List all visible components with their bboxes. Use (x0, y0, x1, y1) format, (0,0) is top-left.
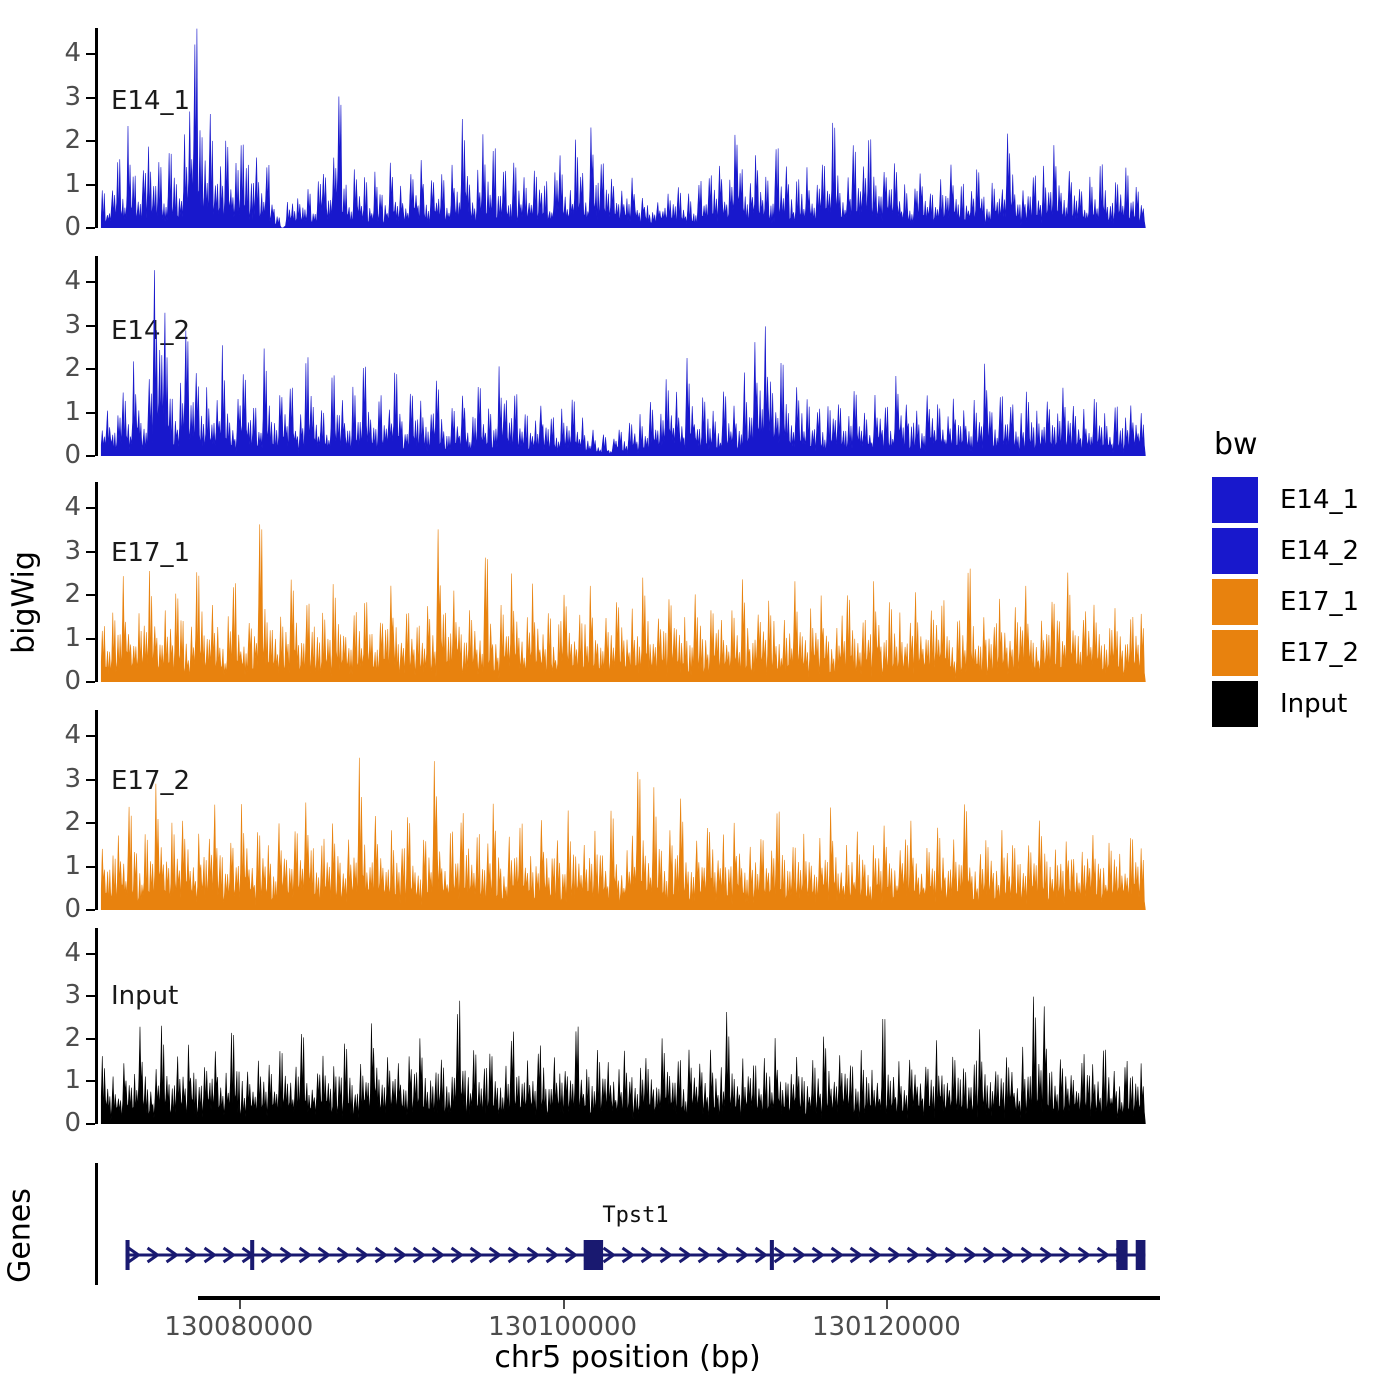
y-tick-label: 4 (41, 940, 81, 966)
y-tick (86, 281, 95, 283)
y-tick-label: 2 (41, 1025, 81, 1051)
legend-swatch-e17_1 (1212, 579, 1258, 625)
gene-exon (584, 1240, 603, 1270)
y-tick-label: 3 (41, 312, 81, 338)
signal-path (101, 524, 1145, 682)
legend-swatch-e14_2 (1212, 528, 1258, 574)
x-tick (563, 1300, 565, 1309)
y-tick (86, 866, 95, 868)
gene-exon (770, 1240, 774, 1270)
y-tick (86, 638, 95, 640)
signal-path (101, 270, 1145, 456)
y-tick-label: 3 (41, 538, 81, 564)
y-tick-label: 1 (41, 399, 81, 425)
legend-label: E17_2 (1280, 638, 1359, 668)
signal-path (101, 29, 1145, 228)
y-tick (86, 681, 95, 683)
gene-exon (126, 1240, 130, 1270)
legend-item-input[interactable]: Input (1212, 678, 1392, 729)
y-tick-label: 0 (41, 896, 81, 922)
y-tick-label: 2 (41, 809, 81, 835)
y-tick-label: 2 (41, 127, 81, 153)
x-tick (239, 1300, 241, 1309)
y-tick (86, 779, 95, 781)
legend-swatch-e14_1 (1212, 477, 1258, 523)
legend-item-e14_2[interactable]: E14_2 (1212, 525, 1392, 576)
y-tick (86, 1038, 95, 1040)
signal-area-e17_1 (98, 482, 1160, 682)
y-tick (86, 953, 95, 955)
legend-title: bw (1214, 430, 1392, 460)
signal-area-e17_2 (98, 710, 1160, 910)
y-tick-label: 0 (41, 668, 81, 694)
y-tick-label: 4 (41, 268, 81, 294)
y-tick-label: 1 (41, 625, 81, 651)
y-tick (86, 822, 95, 824)
x-tick-label: 130120000 (812, 1312, 961, 1342)
legend-item-e14_1[interactable]: E14_1 (1212, 474, 1392, 525)
y-axis-title-genes: Genes (3, 1166, 38, 1306)
y-tick-label: 1 (41, 853, 81, 879)
y-tick (86, 455, 95, 457)
legend-items: E14_1E14_2E17_1E17_2Input (1212, 474, 1392, 729)
signal-path (101, 758, 1145, 910)
y-tick-label: 1 (41, 171, 81, 197)
legend-item-e17_1[interactable]: E17_1 (1212, 576, 1392, 627)
y-tick-label: 4 (41, 494, 81, 520)
y-tick (86, 412, 95, 414)
x-tick-label: 130080000 (164, 1312, 313, 1342)
y-tick (86, 735, 95, 737)
track-panel-e17_1: 01234E17_1 (95, 482, 1160, 682)
legend-swatch-e17_2 (1212, 630, 1258, 676)
y-tick (86, 551, 95, 553)
y-axis-title-bigwig: bigWig (7, 533, 42, 673)
y-tick-label: 4 (41, 722, 81, 748)
y-tick-label: 3 (41, 84, 81, 110)
y-tick (86, 227, 95, 229)
gene-exon (1116, 1240, 1127, 1270)
y-tick (86, 184, 95, 186)
y-tick (86, 594, 95, 596)
y-tick (86, 325, 95, 327)
legend-label: E14_1 (1280, 485, 1359, 515)
legend: bw E14_1E14_2E17_1E17_2Input (1212, 430, 1392, 729)
y-tick (86, 368, 95, 370)
legend-item-e17_2[interactable]: E17_2 (1212, 627, 1392, 678)
y-tick-label: 1 (41, 1067, 81, 1093)
track-panel-input: 01234Input (95, 928, 1160, 1124)
legend-swatch-input (1212, 681, 1258, 727)
signal-area-e14_2 (98, 256, 1160, 456)
y-tick-label: 3 (41, 982, 81, 1008)
y-tick (86, 909, 95, 911)
x-axis-title: chr5 position (bp) (95, 1340, 1160, 1375)
y-tick-label: 3 (41, 766, 81, 792)
legend-label: E17_1 (1280, 587, 1359, 617)
y-tick (86, 97, 95, 99)
y-tick (86, 53, 95, 55)
y-tick (86, 1080, 95, 1082)
y-tick-label: 0 (41, 214, 81, 240)
y-tick-label: 2 (41, 581, 81, 607)
signal-area-e14_1 (98, 28, 1160, 228)
y-tick-label: 0 (41, 1110, 81, 1136)
y-tick (86, 140, 95, 142)
track-panel-e17_2: 01234E17_2 (95, 710, 1160, 910)
y-tick (86, 995, 95, 997)
y-tick (86, 507, 95, 509)
y-tick (86, 1123, 95, 1125)
gene-exon (250, 1240, 254, 1270)
gene-exon (1136, 1240, 1146, 1270)
x-tick-label: 130100000 (488, 1312, 637, 1342)
legend-label: E14_2 (1280, 536, 1359, 566)
signal-path (101, 997, 1145, 1124)
gene-track-panel: Tpst1 (95, 1163, 1160, 1285)
legend-label: Input (1280, 689, 1347, 719)
y-tick-label: 2 (41, 355, 81, 381)
signal-area-input (98, 928, 1160, 1124)
y-tick-label: 4 (41, 40, 81, 66)
track-panel-e14_1: 01234E14_1 (95, 28, 1160, 228)
y-tick-label: 0 (41, 442, 81, 468)
track-panel-e14_2: 01234E14_2 (95, 256, 1160, 456)
x-axis-line (198, 1296, 1160, 1300)
x-tick (886, 1300, 888, 1309)
